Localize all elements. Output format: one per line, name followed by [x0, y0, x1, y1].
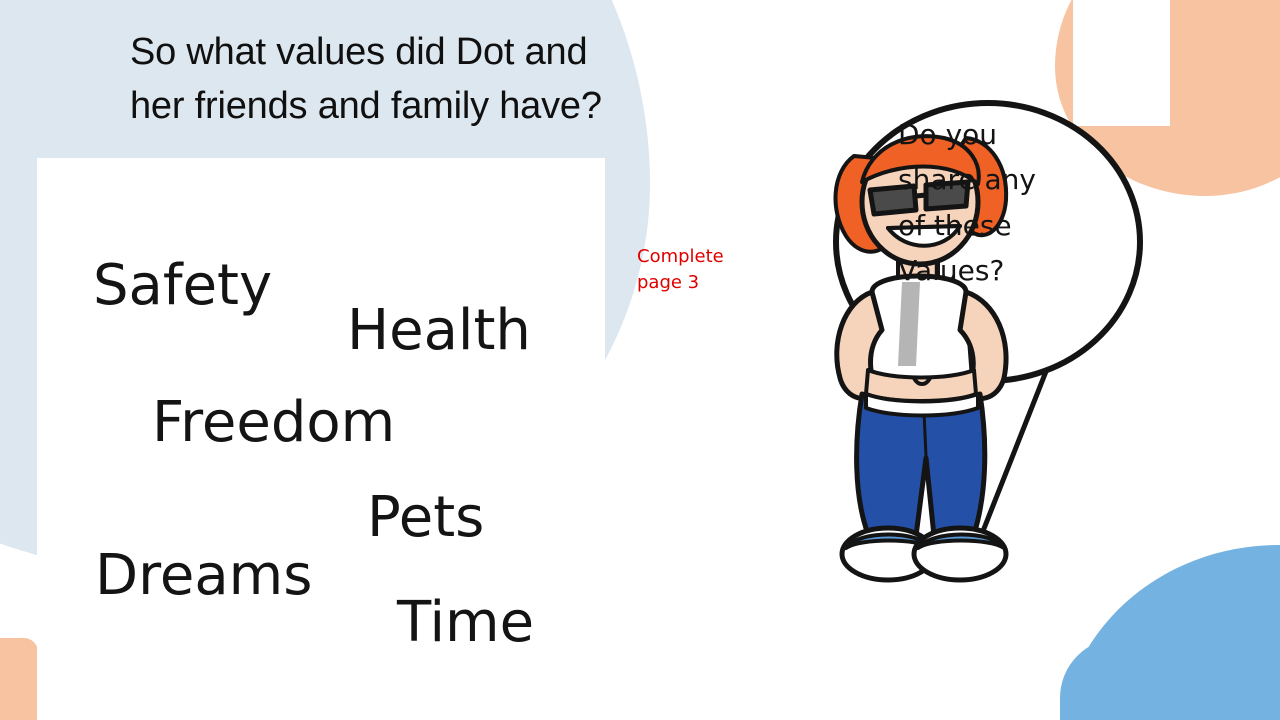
- decor-blob-bottom-left: [0, 638, 38, 720]
- slide-canvas: So what values did Dot and her friends a…: [0, 0, 1280, 720]
- speech-bubble-text: Do you share any of these Values?: [898, 112, 1098, 293]
- jeans-seam: [924, 412, 926, 456]
- decor-blob-bottom-right-step: [1060, 638, 1280, 720]
- word-cloud-term-freedom: Freedom: [152, 390, 395, 455]
- word-cloud-term-dreams: Dreams: [95, 543, 312, 608]
- instruction-note: Complete page 3: [637, 244, 757, 295]
- word-cloud-image: Safety Health Freedom Pets Dreams Time: [37, 158, 605, 720]
- word-cloud-term-health: Health: [347, 298, 531, 363]
- word-cloud-term-time: Time: [397, 590, 534, 655]
- word-cloud-term-pets: Pets: [367, 485, 484, 550]
- word-cloud-term-safety: Safety: [93, 253, 272, 318]
- slide-title: So what values did Dot and her friends a…: [130, 26, 750, 134]
